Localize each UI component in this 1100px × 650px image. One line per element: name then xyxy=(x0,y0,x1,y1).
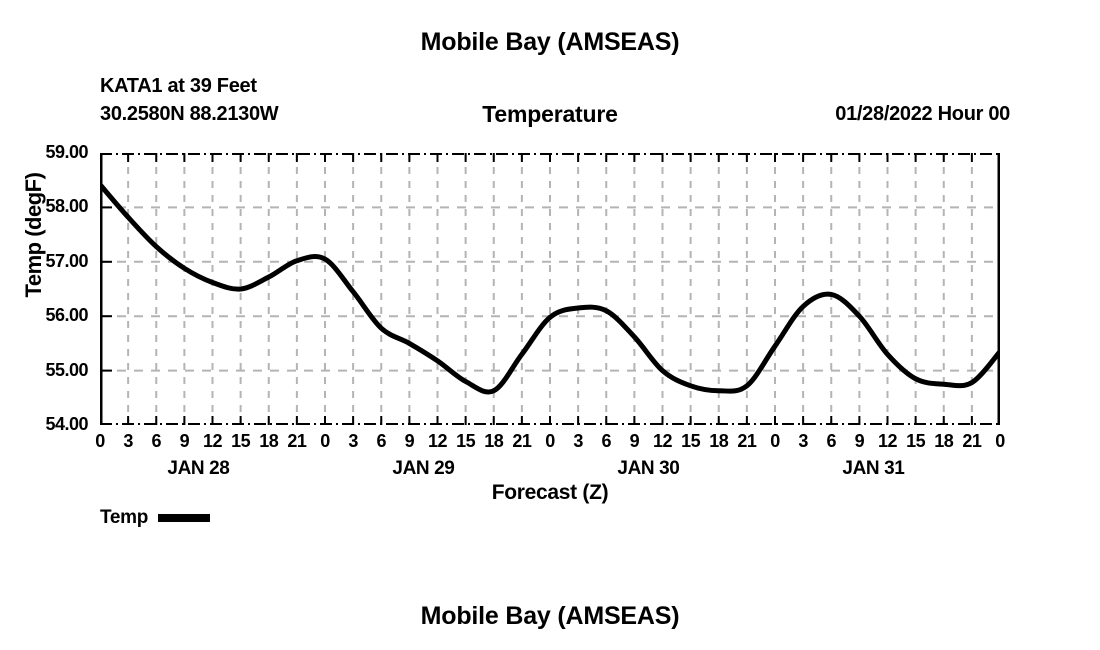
x-axis-day-label: JAN 31 xyxy=(803,458,943,480)
x-axis-day-label: JAN 29 xyxy=(353,458,493,480)
chart-legend: Temp xyxy=(100,507,210,529)
temperature-line-chart xyxy=(100,153,1000,425)
x-axis-tick: 0 xyxy=(980,431,1020,452)
y-axis-tick: 56.00 xyxy=(8,305,88,326)
x-axis-day-label: JAN 28 xyxy=(128,458,268,480)
y-axis-tick: 59.00 xyxy=(8,142,88,163)
page-title-bottom: Mobile Bay (AMSEAS) xyxy=(0,602,1100,631)
station-name: KATA1 at 39 Feet xyxy=(100,75,257,98)
chart-page: Mobile Bay (AMSEAS) KATA1 at 39 Feet 30.… xyxy=(0,0,1100,650)
legend-label-temp: Temp xyxy=(100,507,148,529)
legend-swatch-temp xyxy=(158,514,210,522)
y-axis-tick: 57.00 xyxy=(8,251,88,272)
y-axis-tick: 55.00 xyxy=(8,360,88,381)
page-title-top: Mobile Bay (AMSEAS) xyxy=(0,28,1100,57)
model-run-timestamp: 01/28/2022 Hour 00 xyxy=(835,103,1010,126)
y-axis-tick: 58.00 xyxy=(8,196,88,217)
x-axis-label: Forecast (Z) xyxy=(0,481,1100,505)
plot-area xyxy=(100,153,1000,425)
x-axis-day-label: JAN 30 xyxy=(578,458,718,480)
y-axis-tick: 54.00 xyxy=(8,414,88,435)
